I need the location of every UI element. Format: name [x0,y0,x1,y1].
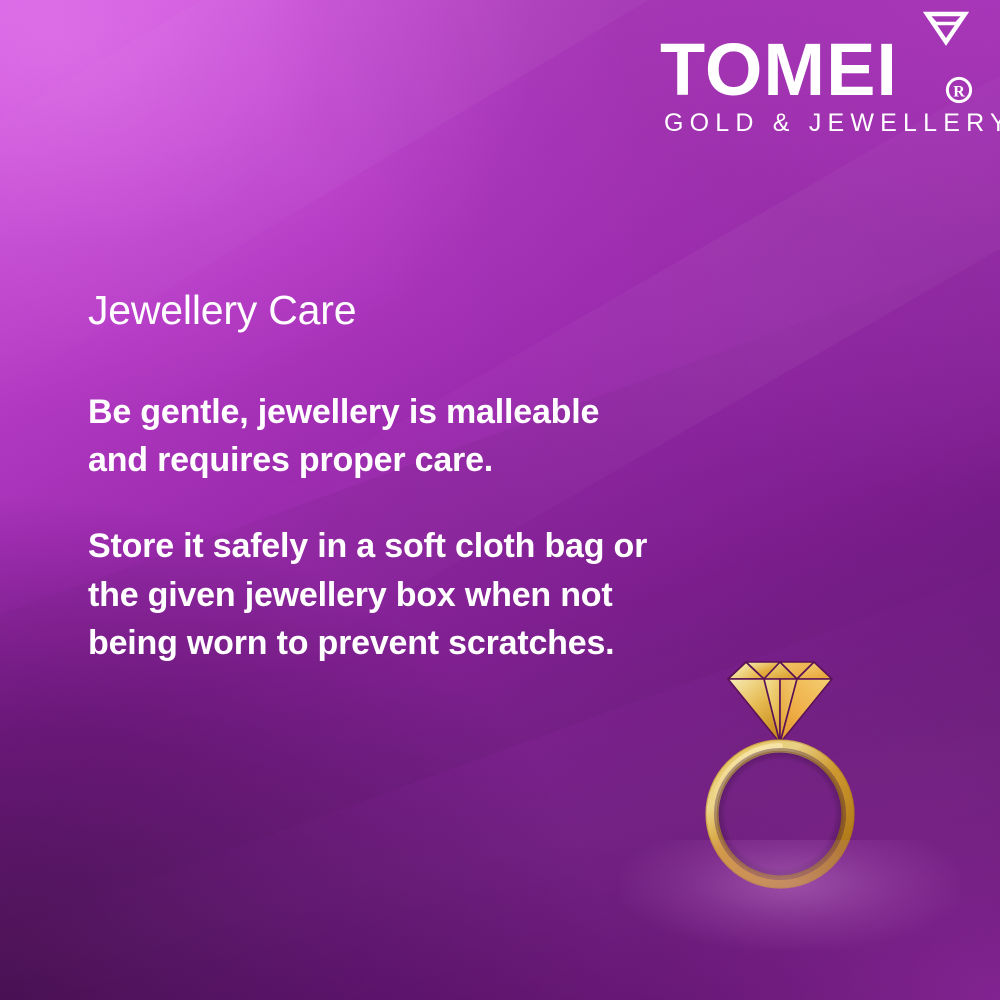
ring-vector [690,645,890,925]
care-paragraph-2: Store it safely in a soft cloth bag or t… [88,522,658,667]
poster-canvas: TOMEI R GOLD & JEWELLERY Jewellery Care … [0,0,1000,1000]
logo-wordmark: TOMEI [660,33,898,107]
diamond-ring-illustration [690,645,890,925]
logo-tagline: GOLD & JEWELLERY [664,111,1000,136]
page-title: Jewellery Care [88,288,658,334]
gold-ring-band [706,740,854,888]
registered-trademark-icon: R [945,76,973,104]
diamond-outline-icon [915,8,977,48]
copy-block: Jewellery Care Be gentle, jewellery is m… [88,288,658,667]
band-inner-shadow [714,748,846,880]
diamond-gem [728,662,832,743]
care-paragraph-1: Be gentle, jewellery is malleable and re… [88,388,658,485]
svg-text:R: R [953,83,965,100]
